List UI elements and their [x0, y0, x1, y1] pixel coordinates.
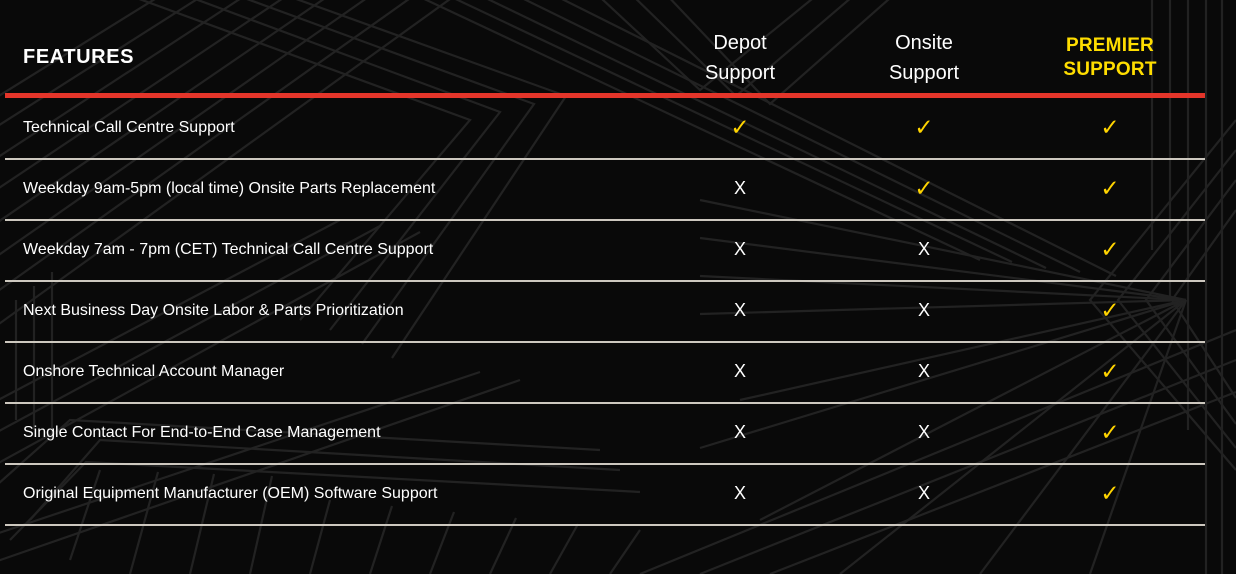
cell-onsite: X: [864, 420, 984, 444]
table-row: Next Business Day Onsite Labor & Parts P…: [0, 281, 1236, 342]
cross-icon: X: [734, 483, 746, 503]
cell-depot: X: [680, 237, 800, 261]
column-header-onsite-support: Onsite Support: [824, 28, 1024, 88]
cell-premier: ✓: [1050, 115, 1170, 141]
feature-label: Technical Call Centre Support: [23, 119, 235, 137]
feature-label: Original Equipment Manufacturer (OEM) So…: [23, 485, 437, 503]
support-comparison-table-page: FEATURES Depot Support Onsite Support PR…: [0, 0, 1236, 574]
check-icon: ✓: [1100, 297, 1119, 323]
cell-premier: ✓: [1050, 176, 1170, 202]
cell-depot: X: [680, 298, 800, 322]
column-header-premier-line2: SUPPORT: [1010, 58, 1210, 82]
column-header-onsite-line2: Support: [824, 58, 1024, 88]
table-row: Single Contact For End-to-End Case Manag…: [0, 403, 1236, 464]
table-row: Original Equipment Manufacturer (OEM) So…: [0, 464, 1236, 525]
cross-icon: X: [734, 361, 746, 381]
check-icon: ✓: [1100, 419, 1119, 445]
cross-icon: X: [918, 300, 930, 320]
comparison-table: FEATURES Depot Support Onsite Support PR…: [0, 0, 1236, 574]
cell-premier: ✓: [1050, 359, 1170, 385]
check-icon: ✓: [1100, 236, 1119, 262]
cell-onsite: ✓: [864, 115, 984, 141]
cell-depot: X: [680, 176, 800, 200]
cross-icon: X: [734, 422, 746, 442]
column-header-premier-line1: PREMIER: [1066, 35, 1154, 56]
cross-icon: X: [918, 483, 930, 503]
table-row: Weekday 7am - 7pm (CET) Technical Call C…: [0, 220, 1236, 281]
table-row: Weekday 9am-5pm (local time) Onsite Part…: [0, 159, 1236, 220]
check-icon: ✓: [914, 175, 933, 201]
feature-label: Weekday 9am-5pm (local time) Onsite Part…: [23, 180, 435, 198]
cross-icon: X: [734, 300, 746, 320]
features-column-header: FEATURES: [23, 46, 134, 69]
column-header-premier-support: PREMIER SUPPORT: [1010, 34, 1210, 82]
column-header-onsite-line1: Onsite: [895, 32, 953, 54]
table-row: Onshore Technical Account ManagerXX✓: [0, 342, 1236, 403]
check-icon: ✓: [914, 114, 933, 140]
cross-icon: X: [918, 422, 930, 442]
check-icon: ✓: [1100, 114, 1119, 140]
feature-label: Onshore Technical Account Manager: [23, 363, 284, 381]
column-header-depot-support: Depot Support: [640, 28, 840, 88]
feature-label: Single Contact For End-to-End Case Manag…: [23, 424, 381, 442]
cell-onsite: X: [864, 481, 984, 505]
column-header-depot-line2: Support: [640, 58, 840, 88]
check-icon: ✓: [730, 114, 749, 140]
cross-icon: X: [918, 239, 930, 259]
cross-icon: X: [734, 239, 746, 259]
table-header: FEATURES Depot Support Onsite Support PR…: [0, 0, 1236, 95]
cell-onsite: ✓: [864, 176, 984, 202]
cell-onsite: X: [864, 237, 984, 261]
cross-icon: X: [918, 361, 930, 381]
feature-label: Next Business Day Onsite Labor & Parts P…: [23, 302, 404, 320]
cell-depot: X: [680, 481, 800, 505]
row-divider: [5, 524, 1205, 526]
feature-label: Weekday 7am - 7pm (CET) Technical Call C…: [23, 241, 433, 259]
check-icon: ✓: [1100, 480, 1119, 506]
table-body: Technical Call Centre Support✓✓✓Weekday …: [0, 98, 1236, 525]
cross-icon: X: [734, 178, 746, 198]
cell-onsite: X: [864, 298, 984, 322]
table-row: Technical Call Centre Support✓✓✓: [0, 98, 1236, 159]
cell-premier: ✓: [1050, 237, 1170, 263]
cell-onsite: X: [864, 359, 984, 383]
cell-premier: ✓: [1050, 481, 1170, 507]
cell-premier: ✓: [1050, 298, 1170, 324]
cell-depot: X: [680, 420, 800, 444]
header-red-divider: [5, 93, 1205, 98]
cell-premier: ✓: [1050, 420, 1170, 446]
check-icon: ✓: [1100, 358, 1119, 384]
cell-depot: X: [680, 359, 800, 383]
cell-depot: ✓: [680, 115, 800, 141]
check-icon: ✓: [1100, 175, 1119, 201]
column-header-depot-line1: Depot: [713, 32, 766, 54]
